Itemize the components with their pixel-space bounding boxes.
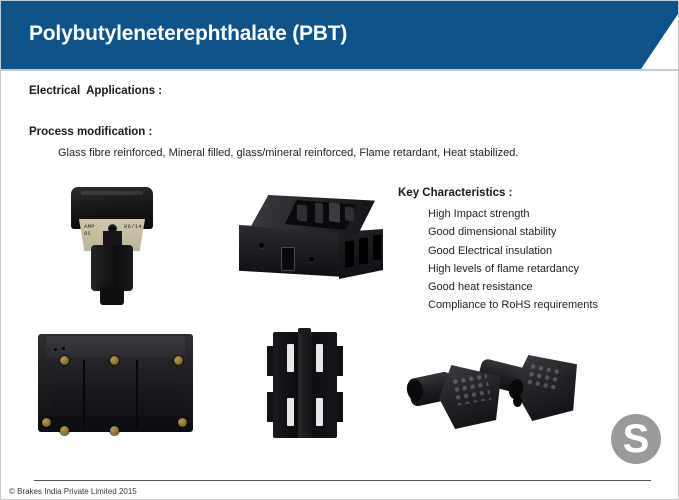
housing-post bbox=[329, 202, 340, 223]
mount-plate-inner-recess bbox=[52, 358, 178, 426]
amp-connector-tail bbox=[100, 287, 124, 305]
housing-slot bbox=[345, 240, 354, 267]
housing-hole bbox=[309, 257, 314, 262]
slotted-block-slot bbox=[316, 344, 323, 372]
list-item: Good heat resistance bbox=[428, 278, 598, 296]
brass-eyelet bbox=[42, 418, 51, 427]
logo-letter: S bbox=[611, 414, 661, 464]
page-title: Polybutyleneterephthalate (PBT) bbox=[29, 22, 347, 46]
housing-slot bbox=[373, 235, 381, 261]
brand-logo: S bbox=[611, 414, 661, 464]
process-modification-text: Glass fibre reinforced, Mineral filled, … bbox=[58, 147, 518, 159]
product-photo-housing-block bbox=[233, 195, 388, 293]
textured-knob-front bbox=[409, 361, 509, 433]
copyright-text: © Brakes India Private Limited 2015 bbox=[9, 487, 137, 496]
mount-plate-rib bbox=[83, 360, 85, 428]
slotted-block-slot bbox=[316, 398, 323, 426]
slotted-block-center-rib bbox=[298, 332, 312, 438]
list-item: High levels of flame retardancy bbox=[428, 260, 598, 278]
brass-eyelet bbox=[174, 356, 183, 365]
brass-eyelet bbox=[60, 356, 69, 365]
product-photo-mount-plate bbox=[38, 334, 193, 432]
amp-connector-body bbox=[91, 245, 133, 291]
amp-label-text-left: AMP8C bbox=[84, 223, 95, 237]
list-item: Compliance to RoHS requirements bbox=[428, 296, 598, 314]
product-photo-slotted-block bbox=[267, 332, 343, 438]
housing-latch bbox=[281, 247, 295, 271]
brass-eyelet bbox=[110, 356, 119, 365]
process-modification-heading: Process modification : bbox=[29, 126, 152, 138]
header-underline bbox=[1, 69, 679, 71]
housing-post bbox=[297, 204, 307, 221]
brass-eyelet bbox=[110, 426, 119, 435]
mount-plate-top-face bbox=[46, 336, 185, 358]
brass-eyelet bbox=[178, 418, 187, 427]
amp-label-text-right: 06/14 bbox=[124, 223, 142, 230]
product-photo-amp-connector: AMP8C 06/14 bbox=[67, 187, 157, 305]
slotted-block-slot bbox=[287, 344, 294, 372]
list-item: Good dimensional stability bbox=[428, 223, 598, 241]
footer-divider bbox=[34, 480, 651, 481]
housing-slot bbox=[359, 237, 368, 264]
housing-post bbox=[345, 206, 354, 221]
list-item: High Impact strength bbox=[428, 205, 598, 223]
key-characteristics-heading: Key Characteristics : bbox=[398, 187, 512, 199]
electrical-applications-heading: Electrical Applications : bbox=[29, 85, 162, 97]
list-item: Good Electrical insulation bbox=[428, 242, 598, 260]
mount-plate-rib bbox=[136, 360, 138, 428]
product-photo-textured-pair bbox=[401, 355, 581, 437]
slotted-block-slot bbox=[287, 398, 294, 426]
brass-eyelet bbox=[60, 426, 69, 435]
slide: Polybutyleneterephthalate (PBT) Electric… bbox=[0, 0, 679, 500]
housing-hole bbox=[259, 243, 264, 248]
mount-plate-dot bbox=[54, 348, 57, 351]
housing-post bbox=[315, 202, 323, 223]
mount-plate-dot bbox=[62, 347, 65, 350]
key-characteristics-list: High Impact strength Good dimensional st… bbox=[428, 205, 598, 315]
knob-hole bbox=[513, 395, 522, 407]
slotted-block-nub bbox=[298, 328, 311, 334]
